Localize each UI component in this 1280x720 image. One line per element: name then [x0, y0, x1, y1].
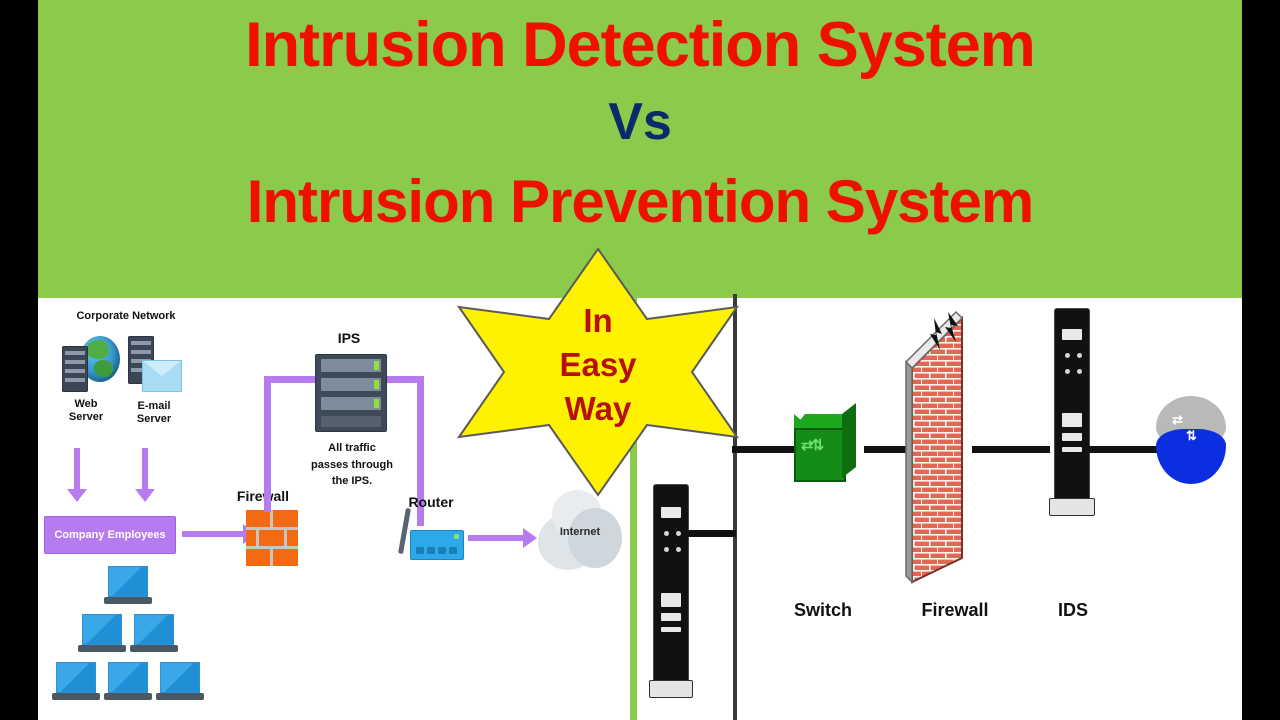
left-firewall-icon	[246, 510, 298, 566]
workstation	[56, 662, 96, 700]
ips-server-rack-icon	[315, 354, 387, 432]
badge-text: In Easy Way	[440, 299, 756, 431]
corporate-network-label: Corporate Network	[56, 310, 196, 323]
router-to-internet-arrow	[468, 535, 524, 541]
workstation	[108, 662, 148, 700]
ips-traffic-note: All traffic passes through the IPS.	[300, 440, 404, 490]
workstation	[108, 566, 148, 604]
workstation	[82, 614, 122, 652]
web-server-icon	[62, 336, 120, 392]
ips-label: IPS	[314, 330, 384, 346]
ids-label: IDS	[1038, 600, 1108, 621]
page-title-line-3: Intrusion Prevention System	[38, 172, 1242, 232]
company-employees-box[interactable]: Company Employees	[44, 516, 176, 554]
ids-to-edge-link	[1084, 446, 1160, 453]
page-title-line-1: Intrusion Detection System	[38, 14, 1242, 77]
server-to-trunk-link	[684, 530, 736, 537]
internet-cloud-icon: Internet	[538, 490, 622, 574]
switch-icon: ⇄⇅	[794, 414, 858, 486]
right-firewall-label: Firewall	[900, 600, 1010, 621]
firewall-to-ids-link	[972, 446, 1050, 453]
server-tower-icon	[653, 484, 687, 696]
internet-label: Internet	[538, 526, 622, 538]
email-server-label: E-mail Server	[114, 400, 194, 425]
edge-router-node-icon: ⇄ ⇅	[1156, 396, 1226, 484]
page-title-vs: Vs	[38, 96, 1242, 148]
video-frame: Intrusion Detection System Vs Intrusion …	[0, 0, 1280, 720]
employees-to-firewall-arrow	[182, 531, 244, 537]
switch-label: Switch	[778, 600, 868, 621]
wireless-router-icon	[396, 510, 462, 562]
workstation	[134, 614, 174, 652]
in-easy-way-badge: In Easy Way	[440, 247, 756, 497]
workstation	[160, 662, 200, 700]
web-server-flow-arrow	[74, 448, 80, 490]
ids-tower-icon	[1054, 308, 1088, 514]
letterbox-right	[1242, 0, 1280, 720]
right-firewall-icon	[890, 300, 978, 590]
workstation-group	[56, 566, 206, 712]
email-server-flow-arrow	[142, 448, 148, 490]
left-firewall-label: Firewall	[218, 488, 308, 504]
letterbox-left	[0, 0, 38, 720]
email-server-icon	[124, 336, 186, 394]
firewall-to-ips-line-v	[264, 376, 271, 512]
